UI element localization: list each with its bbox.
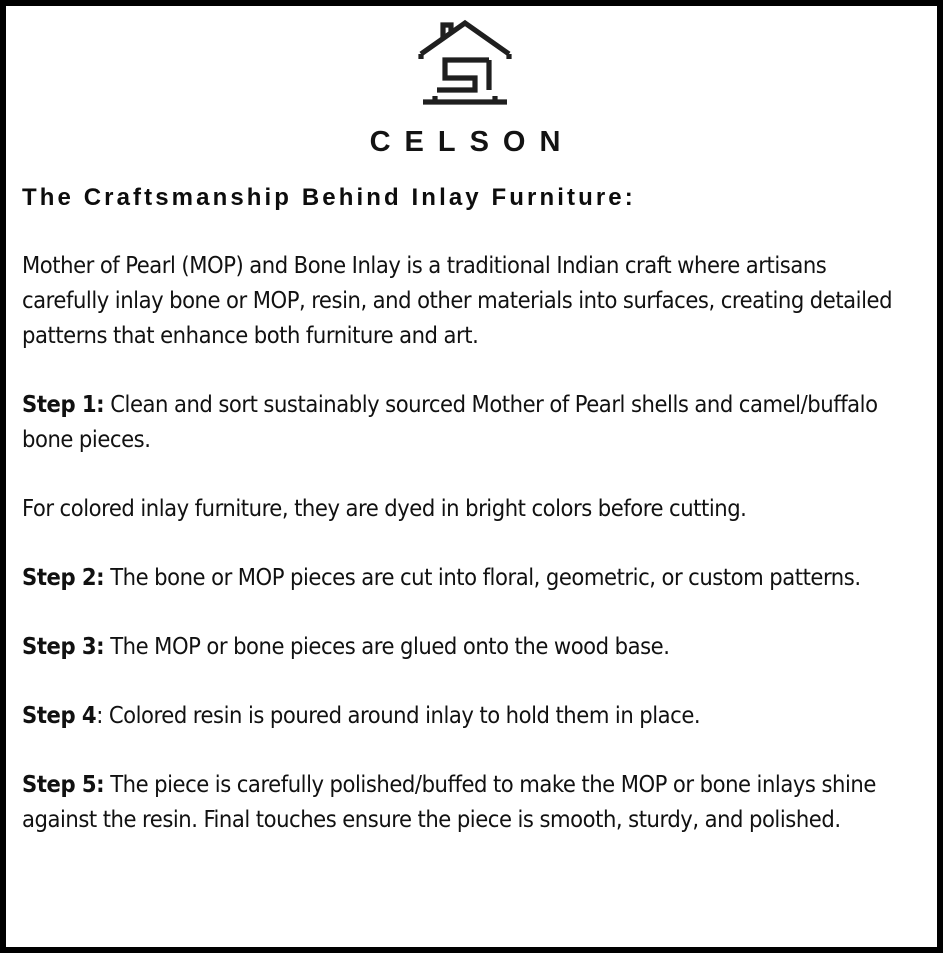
step-5-text: The piece is carefully polished/buffed t… <box>22 770 876 833</box>
step-2-label: Step 2: <box>22 563 104 591</box>
colored-inlay-text: For colored inlay furniture, they are dy… <box>22 494 746 522</box>
step-4-paragraph: Step 4: Colored resin is poured around i… <box>22 698 913 733</box>
poster-content: CELSON The Craftsmanship Behind Inlay Fu… <box>6 6 937 947</box>
step-4-label: Step 4 <box>22 701 96 729</box>
page-title: The Craftsmanship Behind Inlay Furniture… <box>22 184 913 213</box>
step-2-text: The bone or MOP pieces are cut into flor… <box>104 563 860 591</box>
brand-header: CELSON <box>17 12 913 157</box>
poster-frame: CELSON The Craftsmanship Behind Inlay Fu… <box>0 0 943 953</box>
house-logo-icon <box>413 16 517 120</box>
intro-text: Mother of Pearl (MOP) and Bone Inlay is … <box>22 251 892 349</box>
step-1-paragraph: Step 1: Clean and sort sustainably sourc… <box>22 387 913 457</box>
article-body: Mother of Pearl (MOP) and Bone Inlay is … <box>22 248 913 837</box>
step-5-paragraph: Step 5: The piece is carefully polished/… <box>22 767 913 837</box>
step-4-text: : Colored resin is poured around inlay t… <box>96 701 700 729</box>
step-3-label: Step 3: <box>22 632 104 660</box>
colored-inlay-note: For colored inlay furniture, they are dy… <box>22 491 913 526</box>
step-2-paragraph: Step 2: The bone or MOP pieces are cut i… <box>22 560 913 595</box>
step-5-label: Step 5: <box>22 770 104 798</box>
step-1-label: Step 1: <box>22 390 104 418</box>
step-3-text: The MOP or bone pieces are glued onto th… <box>104 632 669 660</box>
brand-wordmark: CELSON <box>17 128 913 157</box>
intro-paragraph: Mother of Pearl (MOP) and Bone Inlay is … <box>22 248 913 353</box>
step-1-text: Clean and sort sustainably sourced Mothe… <box>22 390 878 453</box>
step-3-paragraph: Step 3: The MOP or bone pieces are glued… <box>22 629 913 664</box>
